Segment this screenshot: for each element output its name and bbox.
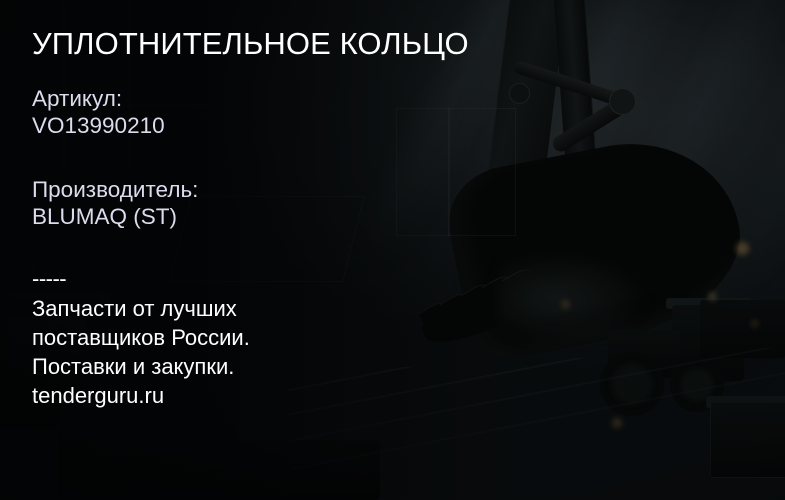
promo-line-1: Запчасти от лучших (32, 294, 250, 323)
product-title: УПЛОТНИТЕЛЬНОЕ КОЛЬЦО (32, 24, 469, 64)
article-label: Артикул: (32, 85, 165, 112)
promo-line-3: Поставки и закупки. (32, 352, 250, 381)
banner-content: УПЛОТНИТЕЛЬНОЕ КОЛЬЦО Артикул: VO1399021… (0, 0, 785, 500)
manufacturer-label: Производитель: (32, 176, 198, 203)
manufacturer-value: BLUMAQ (ST) (32, 203, 198, 230)
promo-block: ----- Запчасти от лучших поставщиков Рос… (32, 268, 250, 410)
article-field: Артикул: VO13990210 (32, 85, 165, 139)
promo-separator: ----- (32, 268, 250, 290)
article-value: VO13990210 (32, 112, 165, 139)
product-banner: УПЛОТНИТЕЛЬНОЕ КОЛЬЦО Артикул: VO1399021… (0, 0, 785, 500)
promo-line-2: поставщиков России. (32, 323, 250, 352)
promo-site-url: tenderguru.ru (32, 381, 250, 410)
manufacturer-field: Производитель: BLUMAQ (ST) (32, 176, 198, 230)
